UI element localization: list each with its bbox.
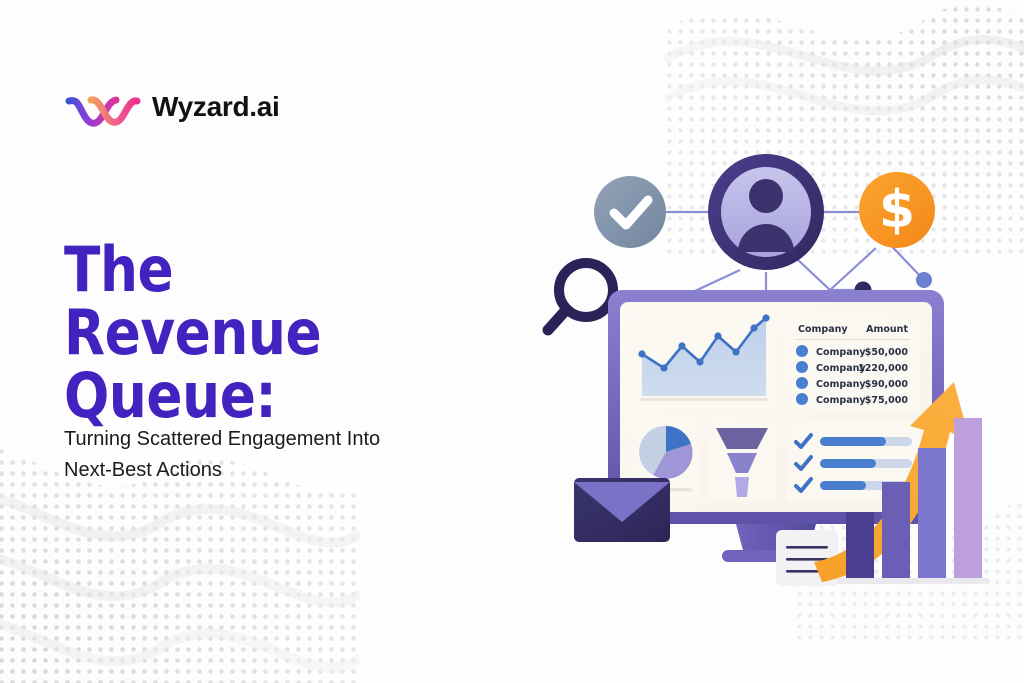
document-line: [786, 558, 828, 561]
slide-canvas: Wyzard.ai The Revenue Queue: Turning Sca…: [0, 0, 1024, 683]
wyzard-wave-mark-icon: [64, 84, 142, 130]
row-bullet: [796, 377, 808, 389]
bar: [846, 512, 874, 578]
envelope: [574, 478, 670, 542]
page-subtitle: Turning Scattered Engagement Into Next-B…: [64, 424, 464, 486]
bar: [918, 448, 946, 578]
illustration-svg: $: [530, 130, 1000, 600]
progress-fill: [820, 459, 876, 468]
row-bullet: [796, 393, 808, 405]
headline-line-2: Queue:: [64, 364, 434, 427]
row-amount: $50,000: [865, 347, 909, 358]
row-company: Company: [816, 395, 866, 406]
headline-line-1: The Revenue: [64, 233, 321, 369]
subtitle-line-2: Next-Best Actions: [64, 459, 222, 481]
dollar-badge: $: [859, 172, 935, 248]
row-bullet: [796, 361, 808, 373]
progress-fill: [820, 481, 866, 490]
node-blue: [916, 272, 932, 288]
line-chart-card: [632, 314, 776, 410]
magnifier: [548, 263, 613, 330]
check-badge: [594, 176, 666, 248]
hero-illustration: $: [530, 130, 1000, 600]
row-bullet: [796, 345, 808, 357]
document-line: [786, 546, 828, 549]
brand-name: Wyzard.ai: [152, 93, 280, 121]
row-company: Company: [816, 347, 866, 358]
bar: [882, 482, 910, 578]
bar-chart-baseline: [836, 578, 990, 584]
page-title: The Revenue Queue:: [64, 238, 434, 428]
dollar-icon: $: [879, 180, 915, 240]
subtitle-line-1: Turning Scattered Engagement Into: [64, 428, 380, 450]
row-company: Company: [816, 379, 866, 390]
table-header-company: Company: [798, 324, 848, 335]
brand-logo[interactable]: Wyzard.ai: [64, 84, 280, 130]
user-avatar: [708, 154, 824, 270]
row-amount: $75,000: [865, 395, 909, 406]
company-table-card: Company Amount Company $50,000 Company 1…: [786, 314, 920, 412]
table-header-amount: Amount: [866, 324, 908, 335]
row-amount: 1220,000: [858, 363, 908, 374]
progress-fill: [820, 437, 886, 446]
row-amount: $90,000: [865, 379, 909, 390]
funnel-chart-card: [708, 418, 776, 502]
bar: [954, 418, 982, 578]
